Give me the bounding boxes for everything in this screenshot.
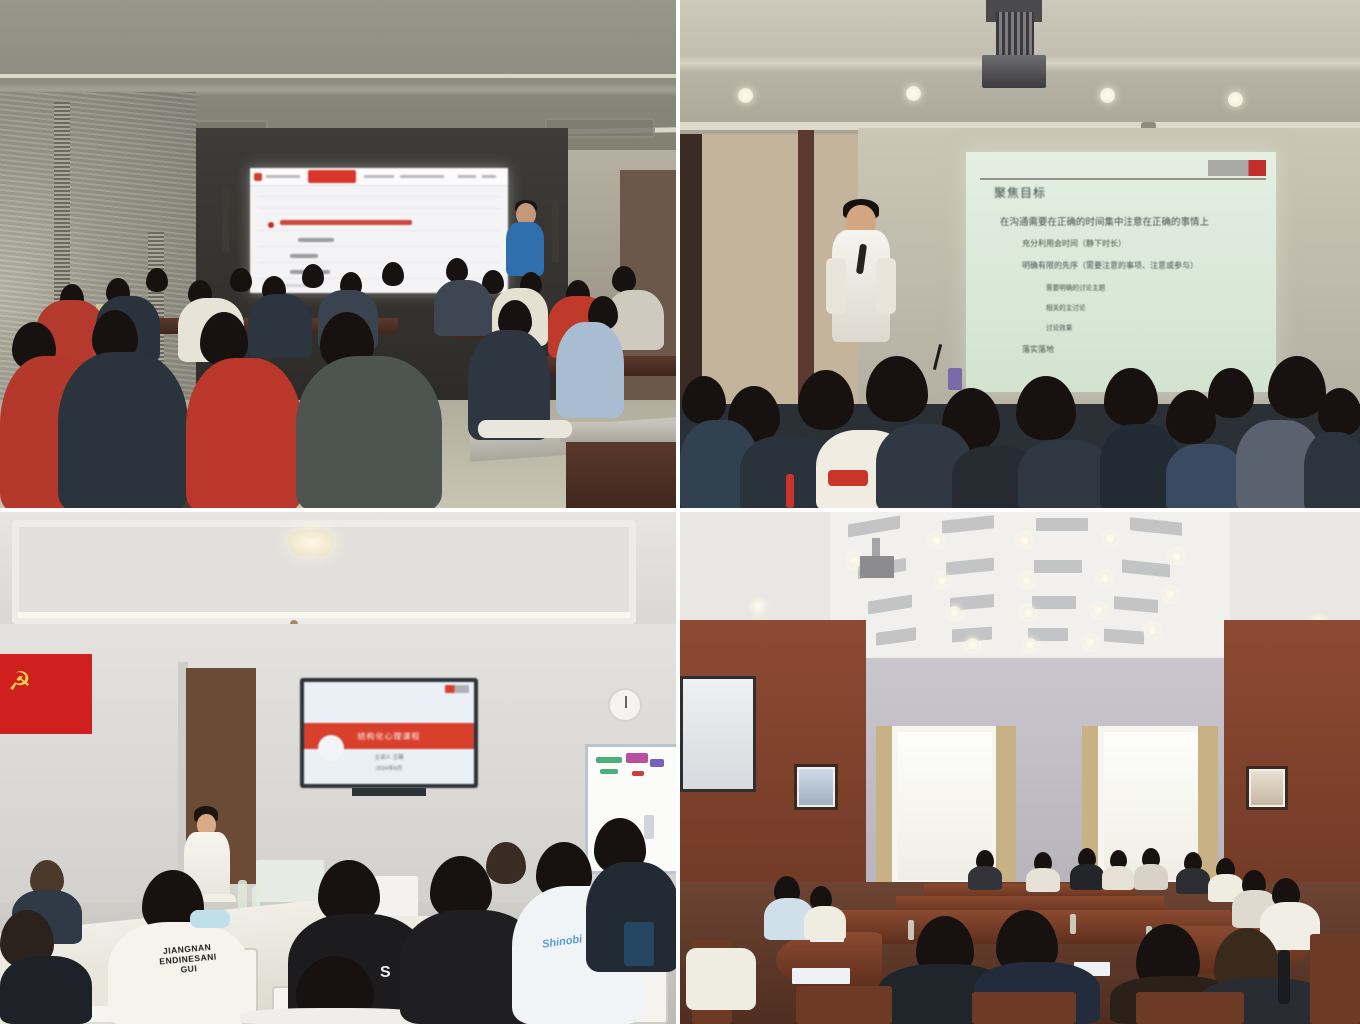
ceiling-downlight bbox=[752, 600, 765, 613]
audience-head bbox=[382, 262, 404, 286]
ceiling-downlight bbox=[948, 606, 961, 619]
wall-speaker-left bbox=[222, 186, 229, 252]
participant-torso bbox=[1070, 864, 1104, 890]
audience-torso bbox=[1166, 444, 1244, 508]
lanyard-strap bbox=[786, 474, 794, 508]
slide-bullet-l2: 充分利用会时间（静下时长） bbox=[1022, 238, 1126, 249]
ceiling-downlight bbox=[906, 86, 921, 101]
participant-torso bbox=[968, 866, 1002, 890]
lanyard bbox=[828, 470, 868, 486]
screen-active-tab bbox=[308, 170, 356, 183]
audience-head bbox=[446, 258, 468, 282]
wood-chair-right bbox=[1310, 934, 1360, 1024]
presenter-torso bbox=[506, 222, 544, 276]
audience-torso bbox=[434, 280, 492, 336]
slide-header-rule bbox=[980, 178, 1266, 180]
desk-front-right bbox=[566, 438, 676, 508]
hammer-and-sickle-icon: ☭ bbox=[8, 668, 36, 696]
ceiling-light-strip bbox=[0, 74, 676, 78]
slide-bullet-l1: 在沟通需要在正确的时间集中注意在正确的事情上 bbox=[1000, 214, 1209, 228]
student-cap bbox=[190, 910, 230, 928]
ceiling-downlight bbox=[1164, 588, 1177, 601]
speaker-arm-right bbox=[876, 258, 896, 314]
tv-stand bbox=[352, 788, 426, 796]
student-torso bbox=[0, 956, 92, 1024]
ceiling-projector bbox=[982, 55, 1046, 88]
ceiling-downlight bbox=[930, 534, 943, 547]
tv-slide-subtitle-2: 2024年6月 bbox=[304, 764, 474, 772]
ceiling-downlight bbox=[936, 574, 949, 587]
projection-screen bbox=[250, 168, 508, 293]
water-bottle bbox=[1070, 914, 1076, 934]
participant-torso bbox=[1176, 868, 1210, 894]
framed-picture-left bbox=[794, 764, 838, 810]
shoulder-bag-strap bbox=[1278, 950, 1290, 1004]
tv-slide-subtitle-1: 主讲人 王琳 bbox=[304, 753, 474, 761]
ceiling-downlight bbox=[1018, 534, 1031, 547]
participant-torso bbox=[804, 906, 846, 940]
wood-chair-back bbox=[1136, 992, 1244, 1024]
ceiling-downlight bbox=[1020, 574, 1033, 587]
participant-torso bbox=[1134, 864, 1168, 890]
framed-picture-right bbox=[1246, 766, 1288, 810]
audience-torso bbox=[248, 294, 312, 358]
audience-torso-front bbox=[58, 352, 188, 508]
ceiling-downlight bbox=[1084, 636, 1097, 649]
audience-torso-front bbox=[186, 358, 302, 508]
student-head bbox=[486, 842, 526, 884]
ceiling-dome-light bbox=[288, 530, 334, 556]
photo-panel-projector-lecture-room: 聚焦目标 在沟通需要在正确的时间集中注意在正确的事情上 充分利用会时间（静下时长… bbox=[680, 0, 1360, 508]
slide-title: 聚焦目标 bbox=[994, 184, 1046, 201]
ceiling-downlight bbox=[1104, 532, 1117, 545]
ceiling-downlight bbox=[1022, 606, 1035, 619]
audience-head bbox=[1318, 388, 1360, 436]
slide-brand-logo bbox=[1208, 160, 1266, 176]
slide-bullet-l2: 明确有限的先序（需要注意的事项、注意或参与） bbox=[1022, 260, 1198, 271]
ceiling-downlight bbox=[966, 638, 979, 651]
wall-mounted-tv: 结构化心理课程 主讲人 王琳 2024年6月 bbox=[300, 678, 478, 788]
ceiling-downlight bbox=[1092, 604, 1105, 617]
pull-down-projection-screen bbox=[680, 676, 756, 792]
photo-collage: 聚焦目标 在沟通需要在正确的时间集中注意在正确的事情上 充分利用会时间（静下时长… bbox=[0, 0, 1360, 1024]
projected-slide: 聚焦目标 在沟通需要在正确的时间集中注意在正确的事情上 充分利用会时间（静下时长… bbox=[966, 152, 1276, 392]
student-bag bbox=[624, 922, 654, 966]
audience-head bbox=[230, 268, 252, 292]
speaker-arm-left bbox=[826, 258, 846, 314]
slide-bullet-l2: 落实落地 bbox=[1022, 344, 1054, 355]
ceiling-downlight bbox=[1100, 88, 1115, 103]
ceiling-downlight bbox=[738, 88, 753, 103]
audience-torso bbox=[1304, 432, 1360, 508]
cove-lighting bbox=[18, 612, 630, 618]
wall-clock bbox=[608, 688, 642, 722]
tote-bag-on-floor bbox=[686, 948, 756, 1010]
notebook-on-table bbox=[792, 968, 850, 984]
ceiling-downlight bbox=[1146, 624, 1159, 637]
water-bottle bbox=[238, 880, 247, 910]
ceiling-downlight bbox=[1024, 638, 1037, 651]
photo-panel-wood-conference-room bbox=[680, 512, 1360, 1024]
slide-bullet-l3: 相关的主讨论 bbox=[1046, 302, 1086, 312]
slide-bullet-l3: 需要明确的讨论主题 bbox=[1046, 282, 1105, 292]
ceiling-downlight bbox=[1098, 572, 1111, 585]
audience-head bbox=[302, 264, 324, 288]
smartphone-held-up bbox=[948, 368, 962, 390]
participant-torso bbox=[1026, 868, 1060, 892]
shirt-line-3: GUI bbox=[180, 963, 197, 974]
ceiling-downlight bbox=[1228, 92, 1243, 107]
desk-surface bbox=[560, 422, 676, 442]
projector-lift-arm bbox=[996, 12, 1034, 58]
ceiling-downlight bbox=[1170, 550, 1183, 563]
ceiling-projector bbox=[860, 556, 894, 578]
photo-panel-large-lecture-hall bbox=[0, 0, 676, 508]
screen-app-logo-icon bbox=[254, 173, 262, 181]
wood-chair-back bbox=[972, 992, 1076, 1024]
audience-head bbox=[612, 266, 636, 292]
wall-speaker-right bbox=[552, 200, 559, 262]
teacup-tray bbox=[478, 420, 572, 438]
audience-torso bbox=[1018, 440, 1112, 508]
audience-head bbox=[146, 268, 168, 292]
shirt-print-letter: S bbox=[380, 964, 391, 982]
window-curtain-left-inner bbox=[996, 726, 1016, 886]
party-flag: ☭ bbox=[0, 654, 92, 734]
slide-bullet-l3: 讨论效果 bbox=[1046, 322, 1072, 332]
wood-chair-back bbox=[796, 986, 892, 1024]
supply-box bbox=[256, 860, 324, 902]
tv-slide-logo bbox=[445, 685, 469, 693]
photo-panel-classroom-with-party-flag: ☭ 结构化心理课程 主讲人 王琳 2024年6月 bbox=[0, 512, 676, 1024]
audience-torso-front bbox=[296, 356, 442, 508]
audience-torso-front bbox=[556, 322, 624, 418]
participant-torso bbox=[1102, 866, 1134, 890]
water-bottle bbox=[908, 920, 914, 940]
